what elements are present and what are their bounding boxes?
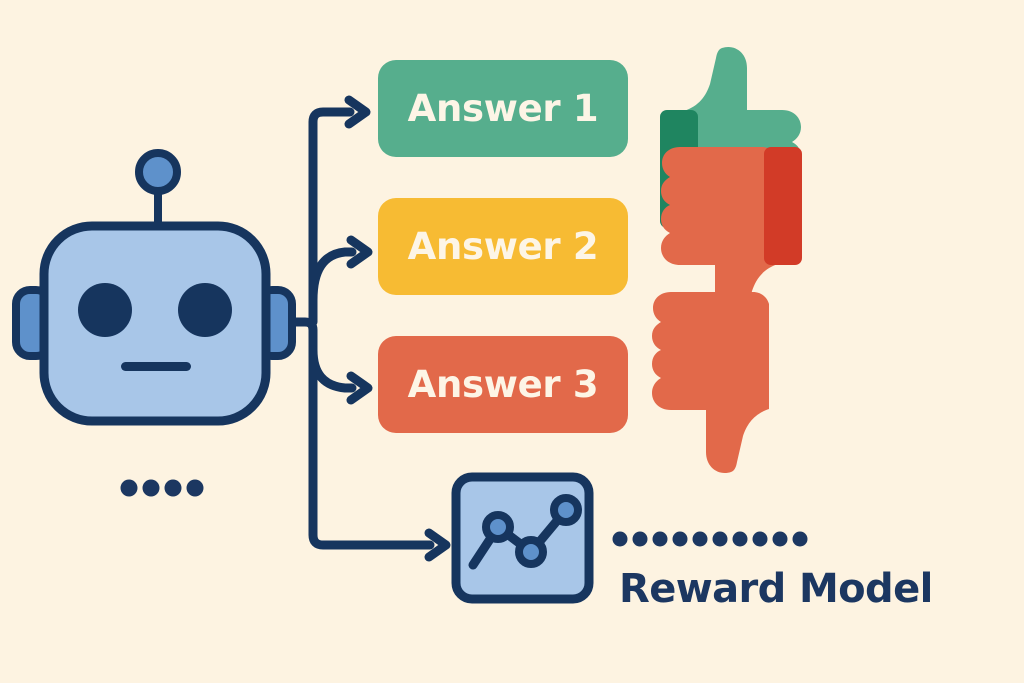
leader-dot xyxy=(693,532,708,547)
answer-box-2[interactable]: Answer 2 xyxy=(378,198,628,295)
connector-trunk-up xyxy=(313,112,350,322)
leader-dot xyxy=(633,532,648,547)
leader-dot xyxy=(613,532,628,547)
leader-dot xyxy=(793,532,808,547)
connector-branch-answer-2 xyxy=(313,252,352,300)
leader-dot xyxy=(773,532,788,547)
line-chart-point xyxy=(519,540,543,564)
robot-ellipsis-dots xyxy=(121,480,204,497)
robot-model xyxy=(16,153,292,421)
reward-model-label: Reward Model xyxy=(619,569,933,609)
diagram-canvas: Answer 1 Answer 2 Answer 3 Reward Model xyxy=(0,0,1024,683)
line-chart-icon[interactable] xyxy=(456,477,589,599)
thumbs-down-icon-answer-3 xyxy=(652,292,769,473)
connector-branch-answer-3 xyxy=(313,350,352,388)
answer-box-3-label: Answer 3 xyxy=(408,366,599,403)
answer-box-3[interactable]: Answer 3 xyxy=(378,336,628,433)
line-chart-point xyxy=(486,515,510,539)
leader-dot xyxy=(713,532,728,547)
connector-arrowheads xyxy=(349,100,446,557)
leader-dot xyxy=(753,532,768,547)
connector-group xyxy=(285,112,430,545)
leader-dot xyxy=(653,532,668,547)
ellipsis-dot xyxy=(121,480,138,497)
answer-box-2-label: Answer 2 xyxy=(408,228,599,265)
ellipsis-dot xyxy=(165,480,182,497)
robot-antenna-bulb xyxy=(139,153,177,191)
line-chart-point xyxy=(554,498,578,522)
robot-head xyxy=(44,226,266,421)
thumbs-down-hand xyxy=(652,292,769,473)
robot-eye-left xyxy=(78,283,132,337)
leader-dot xyxy=(733,532,748,547)
thumbs-down-cuff xyxy=(764,147,802,265)
leader-dot xyxy=(673,532,688,547)
ellipsis-dot xyxy=(143,480,160,497)
robot-eye-right xyxy=(178,283,232,337)
answer-box-1[interactable]: Answer 1 xyxy=(378,60,628,157)
robot-mouth xyxy=(121,362,191,371)
answer-box-1-label: Answer 1 xyxy=(408,90,599,127)
reward-model-leader-dots xyxy=(613,532,808,547)
ellipsis-dot xyxy=(187,480,204,497)
